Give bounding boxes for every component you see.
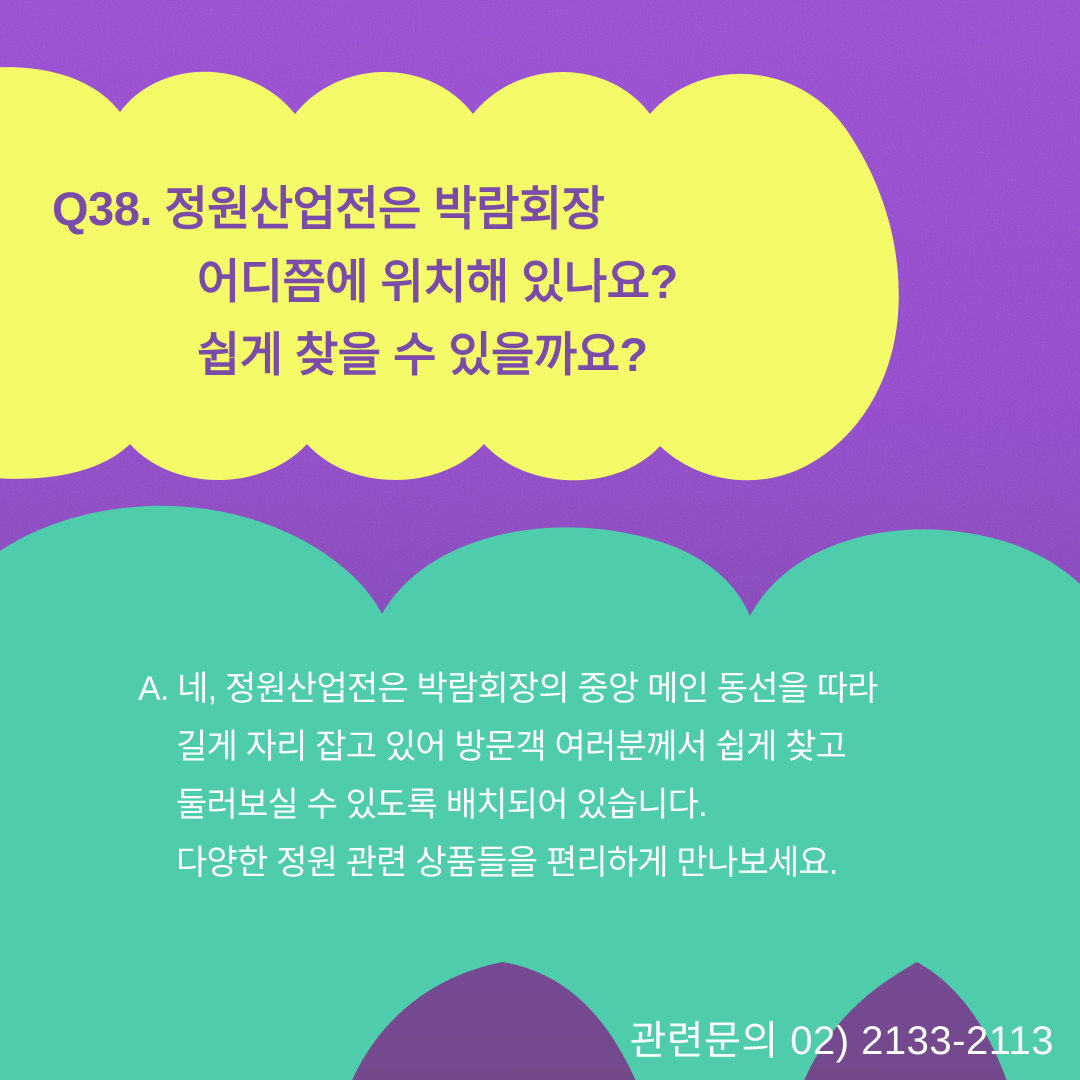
answer-line-3: 둘러보실 수 있도록 배치되어 있습니다. <box>138 776 968 834</box>
question-line-1: Q38. 정원산업전은 박람회장 <box>52 172 882 245</box>
answer-text: A. 네, 정원산업전은 박람회장의 중앙 메인 동선을 따라 길게 자리 잡고… <box>138 660 968 892</box>
question-line-2: 어디쯤에 위치해 있나요? <box>52 245 882 318</box>
question-text: Q38. 정원산업전은 박람회장 어디쯤에 위치해 있나요? 쉽게 찾을 수 있… <box>52 172 882 391</box>
answer-line-2: 길게 자리 잡고 있어 방문객 여러분께서 쉽게 찾고 <box>138 718 968 776</box>
contact-info: 관련문의 02) 2133-2113 <box>629 1008 1054 1066</box>
cloud-shapes <box>0 0 1080 1080</box>
question-line-3: 쉽게 찾을 수 있을까요? <box>52 318 882 391</box>
poster-card: Q38. 정원산업전은 박람회장 어디쯤에 위치해 있나요? 쉽게 찾을 수 있… <box>0 0 1080 1080</box>
answer-line-1: A. 네, 정원산업전은 박람회장의 중앙 메인 동선을 따라 <box>138 660 968 718</box>
answer-line-4: 다양한 정원 관련 상품들을 편리하게 만나보세요. <box>138 834 968 892</box>
